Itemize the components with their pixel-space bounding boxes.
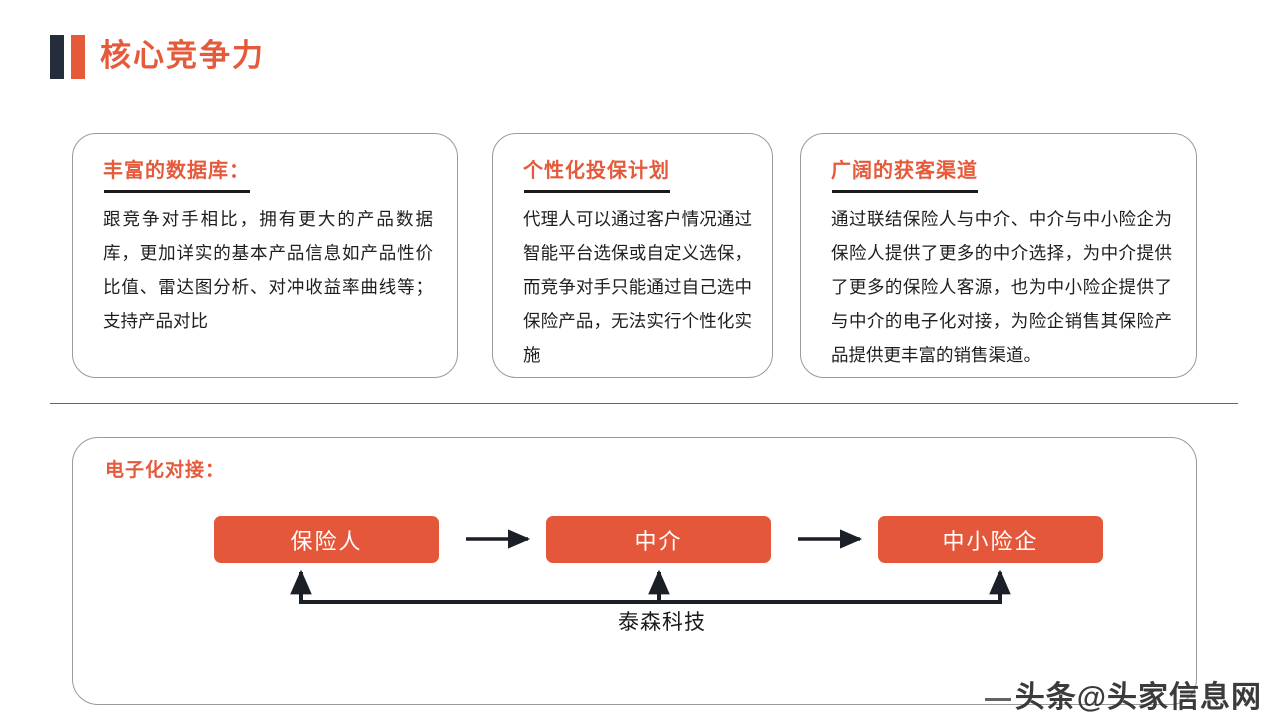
electronic-docking-panel: 电子化对接： <box>72 437 1197 705</box>
title-bar-dark <box>50 35 64 79</box>
watermark-dash <box>985 698 1011 701</box>
flow-box-broker[interactable]: 中介 <box>546 516 771 563</box>
card-body-text: 代理人可以通过客户情况通过智能平台选保或自定义选保，而竞争对手只能通过自己选中保… <box>523 202 752 372</box>
watermark: 头条@头家信息网 <box>985 672 1262 716</box>
card-body-text: 通过联结保险人与中介、中介与中小险企为保险人提供了更多的中介选择，为中介提供了更… <box>831 202 1172 372</box>
flow-box-small-insurer[interactable]: 中小险企 <box>878 516 1103 563</box>
card-body-text: 跟竞争对手相比，拥有更大的产品数据库，更加详实的基本产品信息如产品性价比值、雷达… <box>103 202 433 338</box>
feature-card-database: 丰富的数据库： 跟竞争对手相比，拥有更大的产品数据库，更加详实的基本产品信息如产… <box>72 133 458 378</box>
card-heading: 广阔的获客渠道 <box>831 154 978 183</box>
flow-box-insurer[interactable]: 保险人 <box>214 516 439 563</box>
slide-header: 核心竞争力 <box>0 0 1280 110</box>
watermark-text: 头条@头家信息网 <box>1015 681 1262 714</box>
bottom-panel-heading: 电子化对接： <box>105 455 225 482</box>
title-bar-accent <box>71 35 85 79</box>
feature-card-personalized-plan: 个性化投保计划 代理人可以通过客户情况通过智能平台选保或自定义选保，而竞争对手只… <box>492 133 773 378</box>
section-divider <box>50 403 1238 404</box>
card-heading-rule <box>524 190 670 193</box>
card-heading: 个性化投保计划 <box>523 154 670 183</box>
card-heading: 丰富的数据库： <box>103 154 250 183</box>
feature-card-customer-channels: 广阔的获客渠道 通过联结保险人与中介、中介与中小险企为保险人提供了更多的中介选择… <box>800 133 1197 378</box>
page-title: 核心竞争力 <box>100 33 265 79</box>
flow-platform-label: 泰森科技 <box>552 606 772 636</box>
title-accent-bars <box>50 35 85 79</box>
card-heading-rule <box>832 190 978 193</box>
card-heading-rule <box>104 190 250 193</box>
